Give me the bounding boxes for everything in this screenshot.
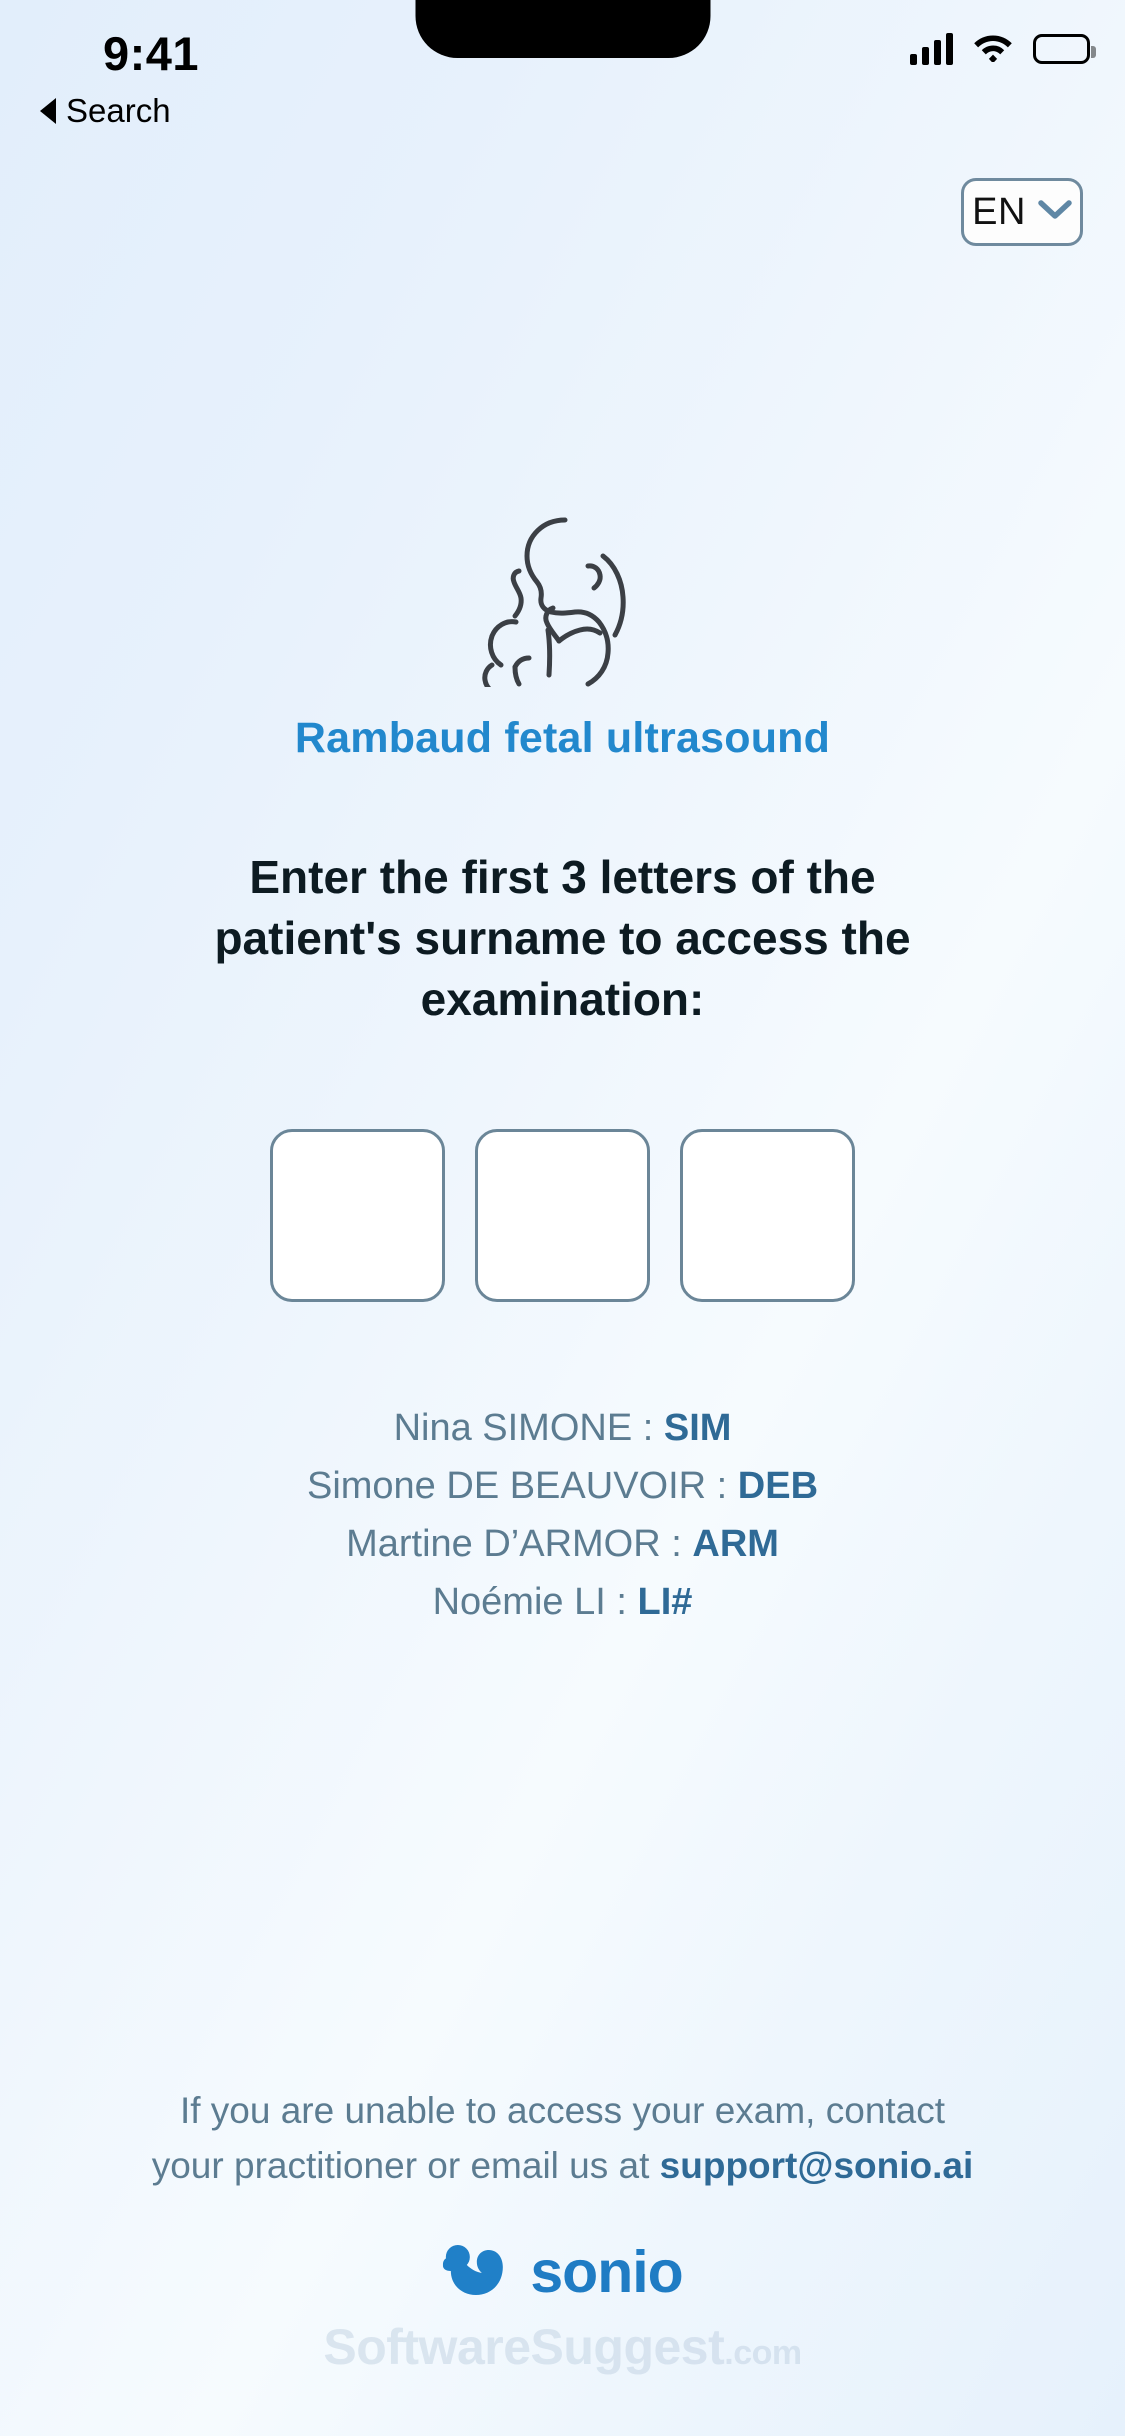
example-separator: : [706, 1465, 738, 1507]
back-arrow-icon [40, 98, 56, 124]
example-name: Martine D’ARMOR [346, 1523, 661, 1565]
help-line-2-prefix: your practitioner or email us at [152, 2145, 660, 2186]
device-notch [415, 0, 710, 58]
list-item: Noémie LI : LI# [307, 1573, 818, 1631]
signal-bars-icon [910, 33, 953, 65]
example-code: DEB [738, 1465, 818, 1507]
help-line-1: If you are unable to access your exam, c… [180, 2090, 945, 2131]
wifi-icon [973, 30, 1013, 67]
status-time: 9:41 [103, 26, 199, 81]
surname-code-inputs [270, 1129, 855, 1302]
status-bar: 9:41 Search [0, 0, 1125, 132]
battery-icon [1033, 34, 1090, 64]
example-separator: : [661, 1523, 693, 1565]
list-item: Martine D’ARMOR : ARM [307, 1515, 818, 1573]
clinic-name: Rambaud fetal ultrasound [295, 714, 830, 763]
help-text: If you are unable to access your exam, c… [98, 2084, 1028, 2194]
status-icons [910, 30, 1090, 67]
example-name: Simone DE BEAUVOIR [307, 1465, 706, 1507]
list-item: Nina SIMONE : SIM [307, 1399, 818, 1457]
back-to-search-link[interactable]: Search [40, 92, 171, 130]
example-separator: : [606, 1581, 638, 1623]
instruction-text: Enter the first 3 letters of the patient… [168, 847, 958, 1031]
example-list: Nina SIMONE : SIM Simone DE BEAUVOIR : D… [307, 1399, 818, 1632]
fetus-outline-icon [470, 512, 655, 692]
surname-letter-input-3[interactable] [680, 1129, 855, 1302]
main-content: Rambaud fetal ultrasound Enter the first… [0, 0, 1125, 2436]
example-separator: : [632, 1407, 664, 1449]
example-code: SIM [664, 1407, 732, 1449]
back-search-label: Search [66, 92, 171, 130]
sonio-logo: sonio [442, 2238, 682, 2306]
example-code: ARM [692, 1523, 779, 1565]
watermark-tld: .com [724, 2334, 801, 2372]
surname-letter-input-1[interactable] [270, 1129, 445, 1302]
example-name: Noémie LI [433, 1581, 606, 1623]
list-item: Simone DE BEAUVOIR : DEB [307, 1457, 818, 1515]
example-code: LI# [637, 1581, 692, 1623]
support-email-link[interactable]: support@sonio.ai [660, 2145, 974, 2186]
surname-letter-input-2[interactable] [475, 1129, 650, 1302]
sonio-wordmark: sonio [530, 2238, 682, 2306]
sonio-mark-icon [442, 2244, 508, 2301]
example-name: Nina SIMONE [394, 1407, 633, 1449]
watermark-main: SoftwareSuggest [323, 2319, 724, 2375]
softwaresuggest-watermark: SoftwareSuggest.com [323, 2318, 801, 2376]
